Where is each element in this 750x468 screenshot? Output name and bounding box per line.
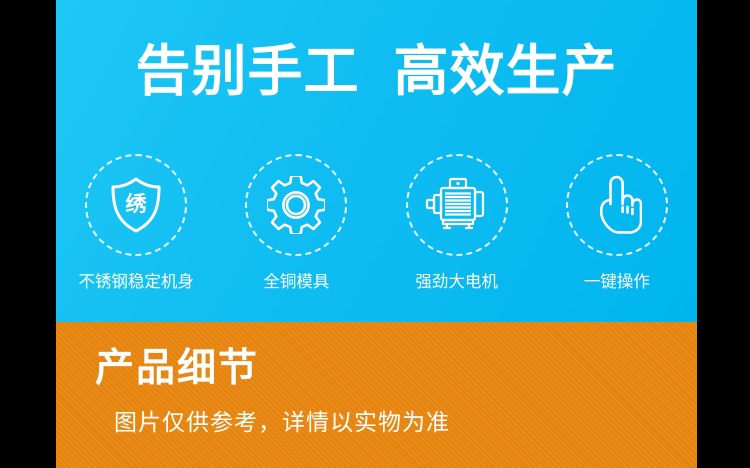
shield-icon: 绣 (108, 175, 164, 235)
shield-inner-char: 绣 (126, 192, 148, 216)
gear-icon (267, 176, 325, 234)
electric-motor-icon (424, 176, 490, 234)
banner-title: 产品细节 (95, 346, 259, 392)
headline-part-2: 高效生产 (394, 39, 618, 103)
feature-label: 不锈钢稳定机身 (78, 272, 194, 292)
feature-label: 一键操作 (584, 272, 650, 292)
headline-part-1: 告别手工 (135, 39, 359, 103)
feature-label: 强劲大电机 (415, 272, 498, 292)
pointing-hand-icon (592, 174, 642, 236)
feature-list: 绣 不锈钢稳定机身 (56, 154, 697, 292)
feature-item-motor: 强劲大电机 (382, 154, 532, 292)
banner-subtitle: 图片仅供参考，详情以实物为准 (114, 408, 450, 438)
feature-label: 全铜模具 (263, 272, 329, 292)
feature-item-one-touch: 一键操作 (542, 154, 692, 292)
feature-circle (406, 154, 508, 256)
feature-circle: 绣 (85, 154, 187, 256)
detail-banner: 产品细节 图片仅供参考，详情以实物为准 (56, 322, 697, 468)
feature-circle (245, 154, 347, 256)
promo-banner-stage: 告别手工高效生产 绣 不锈钢稳定机身 (0, 0, 750, 468)
feature-circle (566, 154, 668, 256)
feature-panel: 告别手工高效生产 绣 不锈钢稳定机身 (56, 0, 697, 322)
feature-item-brass-mold: 全铜模具 (221, 154, 371, 292)
feature-item-stainless-body: 绣 不锈钢稳定机身 (61, 154, 211, 292)
headline: 告别手工高效生产 (56, 36, 697, 106)
